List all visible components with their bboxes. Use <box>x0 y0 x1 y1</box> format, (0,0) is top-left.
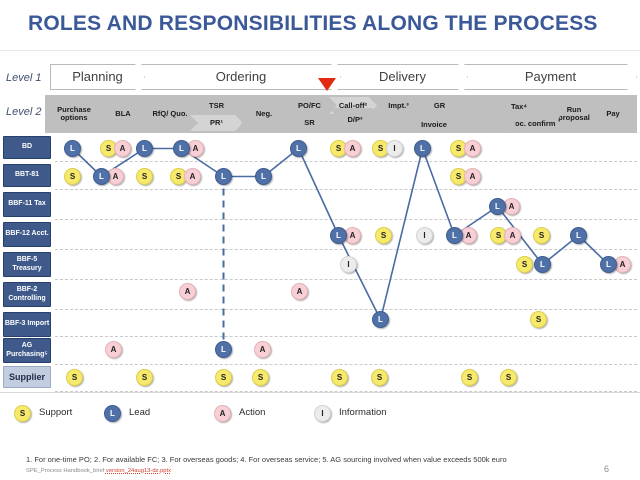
node-l-bd[interactable]: L <box>64 140 81 157</box>
level2-band-label: TSR <box>209 102 224 110</box>
node-i-bbf12[interactable]: I <box>416 227 433 244</box>
node-letter: S <box>456 172 461 181</box>
node-letter: A <box>350 144 356 153</box>
node-letter: L <box>495 202 500 211</box>
node-letter: S <box>70 172 75 181</box>
node-letter: S <box>377 373 382 382</box>
node-l-bbf5[interactable]: L <box>534 256 551 273</box>
legend-item-lead: LLead <box>104 405 150 422</box>
gridline <box>55 279 637 280</box>
node-letter: A <box>113 172 119 181</box>
node-a-agpur[interactable]: A <box>105 341 122 358</box>
node-a-bbt81[interactable]: A <box>464 168 481 185</box>
row-label-text: BBT-81 <box>15 171 39 179</box>
level2-band-label: RfQ/ Quo. <box>153 110 188 118</box>
node-letter: A <box>193 144 199 153</box>
node-s-bbt81[interactable]: S <box>136 168 153 185</box>
node-s-bbf3[interactable]: S <box>530 311 547 328</box>
node-l-bbt81[interactable]: L <box>215 168 232 185</box>
page-title: ROLES AND RESPONSIBILITIES ALONG THE PRO… <box>28 12 598 36</box>
legend-node-a-icon: A <box>214 405 231 422</box>
node-l-bbt81[interactable]: L <box>255 168 272 185</box>
node-a-bbf12[interactable]: A <box>504 227 521 244</box>
node-l-bbf11[interactable]: L <box>489 198 506 215</box>
node-letter: L <box>420 144 425 153</box>
legend-label: Action <box>239 405 265 419</box>
node-letter: L <box>452 231 457 240</box>
node-i-bbf5[interactable]: I <box>340 256 357 273</box>
legend-node-s-icon: S <box>14 405 31 422</box>
node-letter: L <box>261 172 266 181</box>
node-letter: S <box>106 144 111 153</box>
node-s-supplier[interactable]: S <box>371 369 388 386</box>
node-s-supplier[interactable]: S <box>500 369 517 386</box>
node-letter: S <box>337 373 342 382</box>
level1-label: Level 1 <box>6 72 41 84</box>
row-label-text: Supplier <box>9 372 45 382</box>
node-letter: I <box>347 260 349 269</box>
red-marker-icon <box>318 78 336 91</box>
level1-band-payment[interactable]: Payment <box>464 64 637 90</box>
node-letter: I <box>423 231 425 240</box>
row-label-supplier[interactable]: Supplier <box>3 366 51 388</box>
file-ref-prefix: SPE_Process Handbook_brief <box>26 468 106 474</box>
legend-item-support: SSupport <box>14 405 72 422</box>
level2-band-label: BLA <box>115 110 130 118</box>
gridline <box>55 364 637 365</box>
gridline <box>55 309 637 310</box>
node-l-bbf12[interactable]: L <box>570 227 587 244</box>
level2-band-label: D/P³ <box>348 116 363 124</box>
node-l-bd[interactable]: L <box>173 140 190 157</box>
row-label-bbf2[interactable]: BBF-2 Controlling <box>3 282 51 307</box>
node-letter: S <box>496 231 501 240</box>
level2-band-label: PR¹ <box>210 119 223 127</box>
node-a-bbt81[interactable]: A <box>184 168 201 185</box>
file-reference: SPE_Process Handbook_brief version_24aug… <box>26 468 171 474</box>
node-a-bbf2[interactable]: A <box>179 283 196 300</box>
node-l-bd[interactable]: L <box>290 140 307 157</box>
node-letter: S <box>381 231 386 240</box>
gridline <box>55 189 637 190</box>
level2-label: Level 2 <box>6 106 41 118</box>
level2-band-label: Doc. confirm <box>510 120 556 128</box>
node-letter: L <box>336 231 341 240</box>
level2-band-label: GR <box>434 102 445 110</box>
node-s-supplier[interactable]: S <box>215 369 232 386</box>
node-letter: L <box>576 231 581 240</box>
node-letter: S <box>221 373 226 382</box>
row-label-text: BBF-2 Controlling <box>4 286 50 302</box>
node-l-agpur[interactable]: L <box>215 341 232 358</box>
footnote-text: 1. For one-time PO; 2. For available FC;… <box>26 455 507 464</box>
level2-band-label: SR <box>304 119 314 127</box>
level1-band-ordering[interactable]: Ordering <box>141 64 341 90</box>
node-letter: S <box>72 373 77 382</box>
title-divider <box>0 50 640 51</box>
legend-label: Information <box>339 405 387 419</box>
node-letter: A <box>470 172 476 181</box>
node-s-supplier[interactable]: S <box>136 369 153 386</box>
level2-band-invoice[interactable]: Invoice <box>375 117 493 133</box>
row-label-bd[interactable]: BD <box>3 136 51 159</box>
node-letter: A <box>185 287 191 296</box>
node-letter: A <box>620 260 626 269</box>
slide-canvas: ROLES AND RESPONSIBILITIES ALONG THE PRO… <box>0 0 640 480</box>
node-l-bd[interactable]: L <box>136 140 153 157</box>
legend-label: Lead <box>129 405 150 419</box>
node-letter: L <box>70 144 75 153</box>
node-letter: S <box>336 144 341 153</box>
node-letter: L <box>179 144 184 153</box>
row-label-text: BBF-3 Import <box>5 320 49 328</box>
node-letter: A <box>350 231 356 240</box>
node-letter: S <box>176 172 181 181</box>
gridline <box>55 161 637 162</box>
row-label-bbf11[interactable]: BBF-11 Tax <box>3 192 51 217</box>
level1-band-label: Delivery <box>379 70 426 84</box>
node-s-bbt81[interactable]: S <box>64 168 81 185</box>
level1-band-delivery[interactable]: Delivery <box>337 64 468 90</box>
node-letter: A <box>297 287 303 296</box>
node-letter: S <box>539 231 544 240</box>
row-label-bbt81[interactable]: BBT-81 <box>3 164 51 187</box>
level2-band-label: Impt.³ <box>388 102 408 110</box>
node-letter: L <box>540 260 545 269</box>
legend-node-letter: L <box>110 409 115 418</box>
node-letter: A <box>509 202 515 211</box>
node-letter: S <box>456 144 461 153</box>
level1-band-label: Ordering <box>216 70 267 84</box>
node-letter: L <box>296 144 301 153</box>
gridline <box>55 336 637 337</box>
level2-band-label: Purchase options <box>47 106 101 122</box>
row-label-agpur[interactable]: AG Purchasing⁵ <box>3 338 51 363</box>
node-l-bd[interactable]: L <box>414 140 431 157</box>
level1-band-label: Planning <box>72 70 123 84</box>
row-label-bbf3[interactable]: BBF-3 Import <box>3 312 51 337</box>
legend-node-letter: I <box>321 409 323 418</box>
node-letter: S <box>467 373 472 382</box>
node-letter: I <box>393 144 395 153</box>
node-letter: A <box>470 144 476 153</box>
row-label-bbf12[interactable]: BBF-12 Acct. <box>3 222 51 247</box>
level2-band-label: PO/FC <box>298 102 321 110</box>
row-label-text: BBF-11 Tax <box>8 200 46 208</box>
gridline <box>55 249 637 250</box>
node-s-supplier[interactable]: S <box>461 369 478 386</box>
node-i-bd[interactable]: I <box>386 140 403 157</box>
node-letter: S <box>142 373 147 382</box>
gridline <box>55 219 637 220</box>
row-label-text: BBF-12 Acct. <box>5 230 48 238</box>
node-l-bbt81[interactable]: L <box>93 168 110 185</box>
node-letter: A <box>510 231 516 240</box>
row-label-text: BD <box>22 143 32 151</box>
node-l-bbf5[interactable]: L <box>600 256 617 273</box>
legend-node-i-icon: I <box>314 405 331 422</box>
legend-node-l-icon: L <box>104 405 121 422</box>
level2-band-label: Tax⁴ <box>511 103 527 111</box>
level1-band-planning[interactable]: Planning <box>50 64 145 90</box>
file-ref-link[interactable]: version_24aug13-dz.pptx <box>106 468 171 474</box>
legend-node-letter: S <box>20 409 25 418</box>
level1-band-label: Payment <box>525 70 576 84</box>
node-letter: S <box>258 373 263 382</box>
node-letter: S <box>506 373 511 382</box>
node-s-bbf12[interactable]: S <box>375 227 392 244</box>
level2-band-bla[interactable]: BLA <box>96 97 150 131</box>
node-a-bd[interactable]: A <box>114 140 131 157</box>
level2-band-label: Pay <box>606 110 619 118</box>
page-number: 6 <box>604 464 609 474</box>
node-s-bbf5[interactable]: S <box>516 256 533 273</box>
node-letter: L <box>142 144 147 153</box>
level2-band-label: Neg. <box>256 110 272 118</box>
row-label-text: AG Purchasing⁵ <box>4 342 50 358</box>
node-s-supplier[interactable]: S <box>66 369 83 386</box>
node-l-bbf3[interactable]: L <box>372 311 389 328</box>
legend-label: Support <box>39 405 72 419</box>
level2-band-tax[interactable]: Tax⁴ <box>476 97 562 117</box>
row-label-text: BBF-5 Treasury <box>4 256 50 272</box>
node-letter: L <box>606 260 611 269</box>
legend-node-letter: A <box>220 409 226 418</box>
level2-band-purchase-options[interactable]: Purchase options <box>47 97 101 131</box>
node-a-bd[interactable]: A <box>344 140 361 157</box>
node-letter: A <box>466 231 472 240</box>
node-l-bbf12[interactable]: L <box>330 227 347 244</box>
node-letter: S <box>142 172 147 181</box>
node-letter: A <box>190 172 196 181</box>
node-letter: A <box>260 345 266 354</box>
node-letter: A <box>111 345 117 354</box>
node-s-supplier[interactable]: S <box>331 369 348 386</box>
legend-item-information: IInformation <box>314 405 387 422</box>
node-letter: S <box>378 144 383 153</box>
node-a-bbf2[interactable]: A <box>291 283 308 300</box>
node-letter: L <box>378 315 383 324</box>
node-letter: L <box>221 172 226 181</box>
node-s-bbf12[interactable]: S <box>533 227 550 244</box>
legend-item-action: AAction <box>214 405 265 422</box>
node-letter: S <box>522 260 527 269</box>
node-s-supplier[interactable]: S <box>252 369 269 386</box>
level2-band-label: Invoice <box>421 121 447 129</box>
node-a-agpur[interactable]: A <box>254 341 271 358</box>
row-label-bbf5[interactable]: BBF-5 Treasury <box>3 252 51 277</box>
node-l-bbf12[interactable]: L <box>446 227 463 244</box>
node-letter: S <box>536 315 541 324</box>
node-letter: L <box>221 345 226 354</box>
node-letter: A <box>120 144 126 153</box>
node-a-bd[interactable]: A <box>464 140 481 157</box>
node-letter: L <box>99 172 104 181</box>
supplier-bottom-rule <box>0 392 640 393</box>
